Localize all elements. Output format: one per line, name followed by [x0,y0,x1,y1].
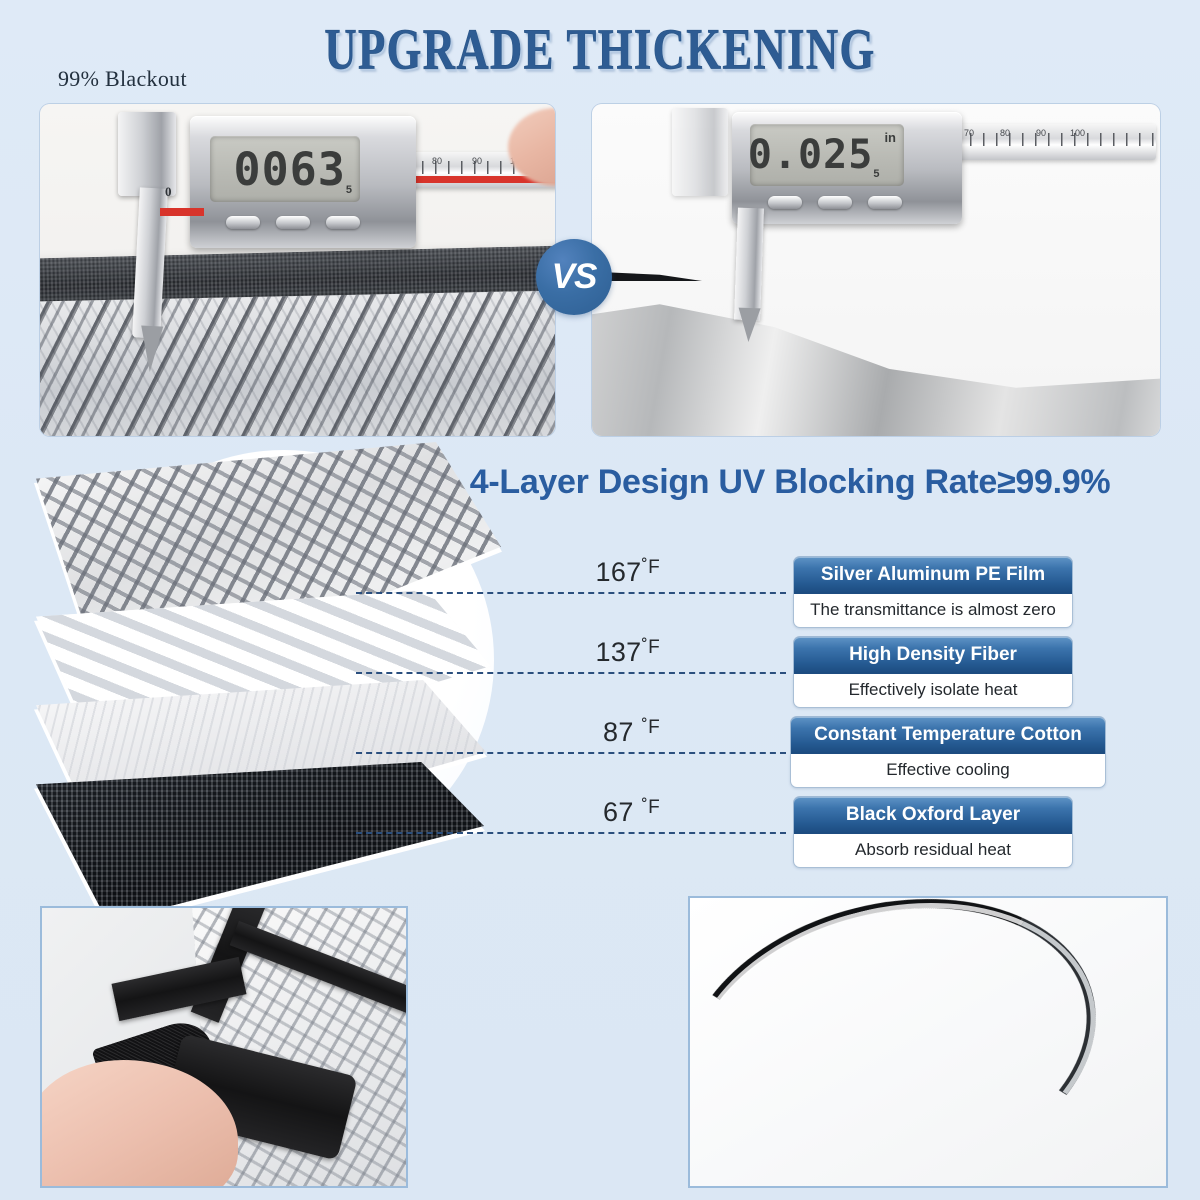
temperature-value-2: 137 [596,637,642,667]
quilted-silver-fabric [40,290,555,436]
temperature-value-3: 87 [603,717,641,747]
degree-symbol-4: ˚F [641,797,660,818]
layer-card-4-description: Absorb residual heat [793,834,1073,868]
layer-black-oxford [36,762,484,922]
caliper-reading-decimal: 5 [873,168,879,186]
caliper-button-mm-inch[interactable] [226,216,260,229]
layer-card-3-title: Constant Temperature Cotton [790,716,1106,754]
caliper-reading: 0.025 [750,135,873,175]
caliper-red-index-mark [160,208,204,216]
temperature-value-4: 67 [603,797,641,827]
layer-card-4-title: Black Oxford Layer [793,796,1073,834]
temperature-label-2: 137˚F [500,637,660,668]
layer-card-3-description: Effective cooling [790,754,1106,788]
layer-card-3: Constant Temperature Cotton Effective co… [790,716,1106,788]
layer-card-1-title: Silver Aluminum PE Film [793,556,1073,594]
vs-badge: VS [536,239,612,315]
layer-card-2-title: High Density Fiber [793,636,1073,674]
degree-symbol-3: ˚F [641,717,660,738]
caliper-lcd-display: 0.025 5 in [750,124,904,186]
velcro-strap-detail-photo [40,906,408,1188]
layer-card-2-description: Effectively isolate heat [793,674,1073,708]
layer-card-4: Black Oxford Layer Absorb residual heat [793,796,1073,868]
caliper-lcd-display: 0063 5 [210,136,360,202]
degree-symbol-1: ˚F [641,557,660,578]
caliper-button-onoff[interactable] [818,196,852,209]
temperature-label-3: 87 ˚F [500,717,660,748]
ruler-tick-90: 90 [472,156,482,166]
layer-card-1: Silver Aluminum PE Film The transmittanc… [793,556,1073,628]
steel-spring-frame-photo [688,896,1168,1188]
leader-line-4 [356,832,786,834]
leader-line-3 [356,752,786,754]
leader-line-1 [356,592,786,594]
ruler-tick-90: 90 [1036,128,1046,138]
caliper-jaw-tip [139,325,163,372]
caliper-jaw-blade [734,208,764,321]
infographic-page: UPGRADE THICKENING 99% Blackout 70 80 90… [0,0,1200,1200]
layer-card-1-description: The transmittance is almost zero [793,594,1073,628]
caliper-slider-head [672,108,728,196]
ruler-tick-80: 80 [432,156,442,166]
layer-card-2: High Density Fiber Effectively isolate h… [793,636,1073,708]
caliper-reading-decimal: 5 [346,184,352,202]
leader-line-2 [356,672,786,674]
caliper-jaw-tip [737,308,760,343]
page-title: UPGRADE THICKENING [42,16,1158,83]
temperature-label-1: 167˚F [500,557,660,588]
temperature-label-4: 67 ˚F [500,797,660,828]
caliper-reading: 0063 [234,147,346,192]
ruler-ticks [944,133,1156,146]
caliper-zero-label: 0 [165,184,172,200]
thin-sunshade-photo: 70 80 90 100 0.025 5 in [592,104,1160,436]
layer-stack-illustration [28,440,548,910]
caliper-button-zero[interactable] [326,216,360,229]
blackout-label: 99% Blackout [58,66,187,92]
degree-symbol-2: ˚F [641,637,660,658]
ruler-tick-80: 80 [1000,128,1010,138]
caliper-unit-label: in [879,124,896,145]
caliper-button-zero[interactable] [868,196,902,209]
temperature-value-1: 167 [596,557,642,587]
ruler-tick-70: 70 [964,128,974,138]
ruler-tick-100: 100 [1070,128,1085,138]
thick-sunshade-photo: 70 80 90 100 0063 5 0 [40,104,555,436]
caliper-ruler-rail [944,124,1156,160]
caliper-button-onoff[interactable] [276,216,310,229]
caliper-button-mm-inch[interactable] [768,196,802,209]
